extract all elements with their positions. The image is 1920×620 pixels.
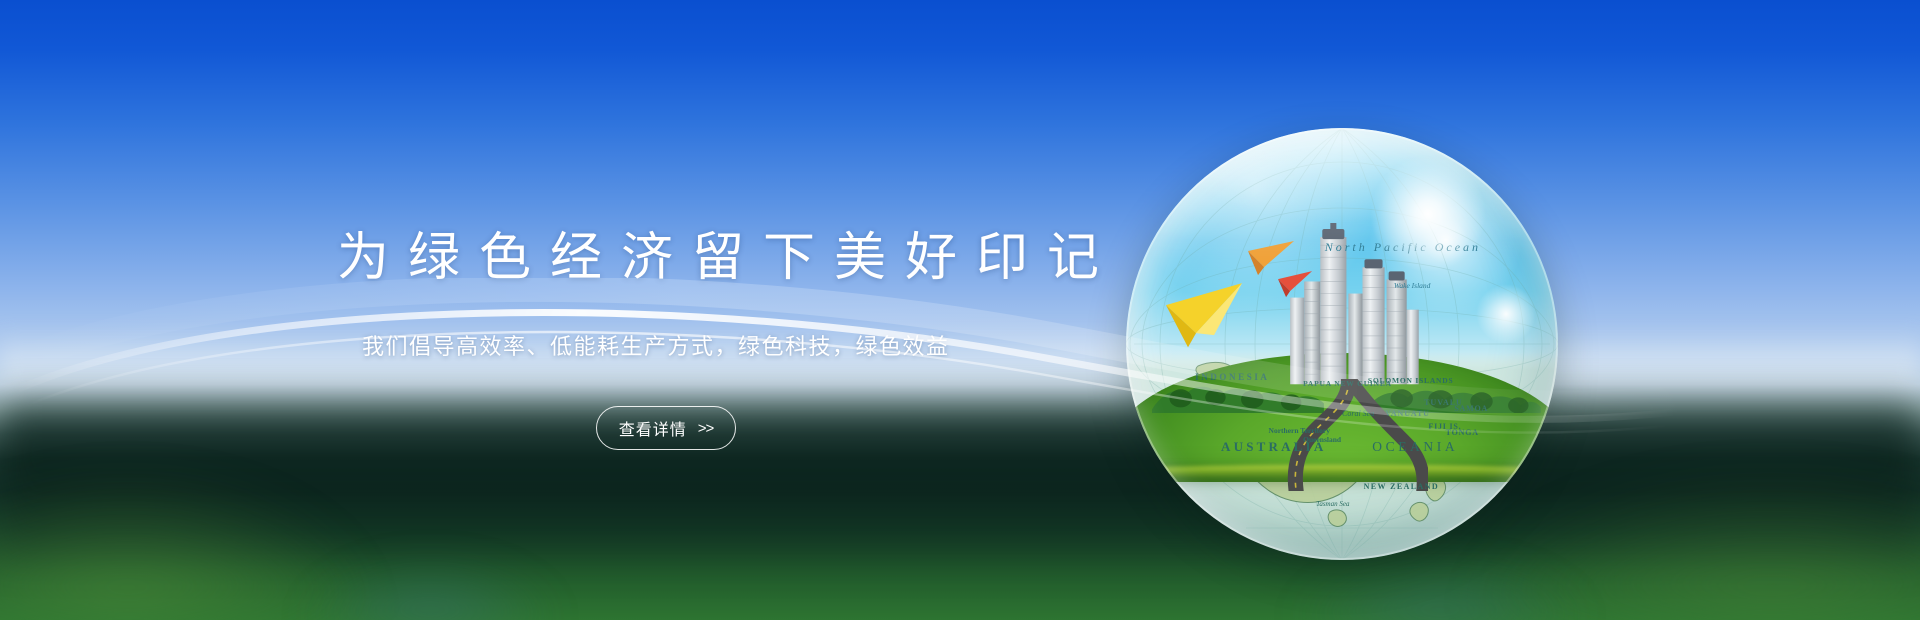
view-details-label: 查看详情 [619, 416, 687, 440]
paper-plane-red [1278, 271, 1312, 297]
globe-sphere: North Pacific Ocean Wake Island INDONESI… [1126, 128, 1558, 560]
ground-teal-right [1290, 560, 1590, 620]
paper-plane-orange [1248, 241, 1294, 275]
globe-clip: North Pacific Ocean Wake Island INDONESI… [1126, 128, 1558, 560]
globe-paper-planes [1152, 227, 1342, 365]
globe-road [1256, 379, 1429, 491]
view-details-button[interactable]: 查看详情 >> [596, 406, 736, 450]
chevron-right-icon: >> [698, 420, 714, 437]
banner-headline: 为绿色经济留下美好印记 [337, 228, 1118, 288]
hero-banner: 为绿色经济留下美好印记 我们倡导高效率、低能耗生产方式，绿色科技，绿色效益 查看… [0, 0, 1920, 620]
banner-subheadline: 我们倡导高效率、低能耗生产方式，绿色科技，绿色效益 [362, 331, 950, 363]
globe-illustration: North Pacific Ocean Wake Island INDONESI… [1126, 128, 1558, 560]
paper-plane-yellow [1166, 283, 1242, 347]
